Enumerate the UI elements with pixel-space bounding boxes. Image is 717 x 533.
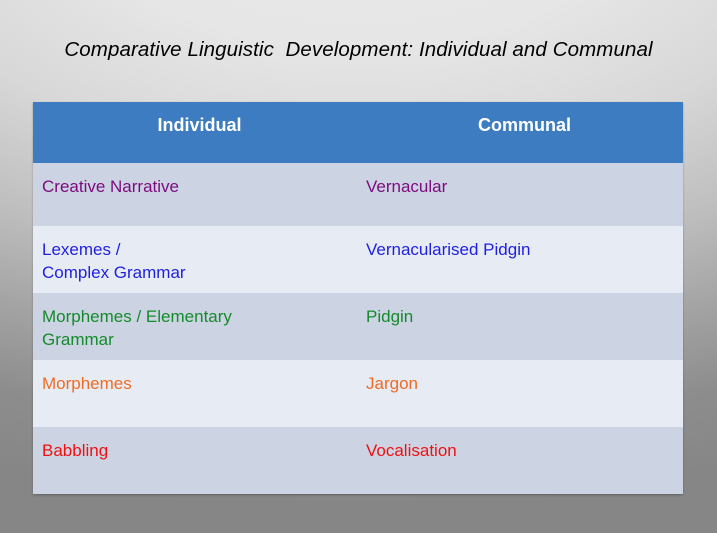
cell-individual-text: Creative Narrative [33,163,357,199]
cell-individual-text: Morphemes [33,360,357,396]
presentation-slide: Comparative Linguistic Development: Indi… [0,0,717,533]
cell-individual: Babbling [33,427,357,494]
cell-communal-text: Vernacularised Pidgin [357,226,683,262]
table-body: Creative Narrative Vernacular Lexemes / … [33,163,683,494]
comparison-table: Individual Communal Creative Narrative V… [33,102,683,494]
table-header-row: Individual Communal [33,102,683,163]
column-header-communal-label: Communal [357,102,683,138]
cell-communal: Vocalisation [357,427,683,494]
cell-communal-text: Jargon [357,360,683,396]
cell-individual-text: Lexemes / Complex Grammar [33,226,357,284]
column-header-individual: Individual [33,102,357,163]
cell-individual: Lexemes / Complex Grammar [33,226,357,293]
cell-individual-text: Morphemes / Elementary Grammar [33,293,357,351]
cell-individual: Creative Narrative [33,163,357,226]
cell-communal: Vernacular [357,163,683,226]
cell-communal: Jargon [357,360,683,427]
slide-title: Comparative Linguistic Development: Indi… [0,38,717,62]
column-header-individual-label: Individual [33,102,357,138]
cell-individual-text: Babbling [33,427,357,463]
cell-communal-text: Pidgin [357,293,683,329]
table-row: Babbling Vocalisation [33,427,683,494]
cell-communal-text: Vocalisation [357,427,683,463]
cell-communal: Vernacularised Pidgin [357,226,683,293]
table-row: Creative Narrative Vernacular [33,163,683,226]
table-header: Individual Communal [33,102,683,163]
cell-individual: Morphemes [33,360,357,427]
table-row: Lexemes / Complex Grammar Vernacularised… [33,226,683,293]
table-row: Morphemes / Elementary Grammar Pidgin [33,293,683,360]
table-row: Morphemes Jargon [33,360,683,427]
column-header-communal: Communal [357,102,683,163]
cell-individual: Morphemes / Elementary Grammar [33,293,357,360]
cell-communal: Pidgin [357,293,683,360]
cell-communal-text: Vernacular [357,163,683,199]
